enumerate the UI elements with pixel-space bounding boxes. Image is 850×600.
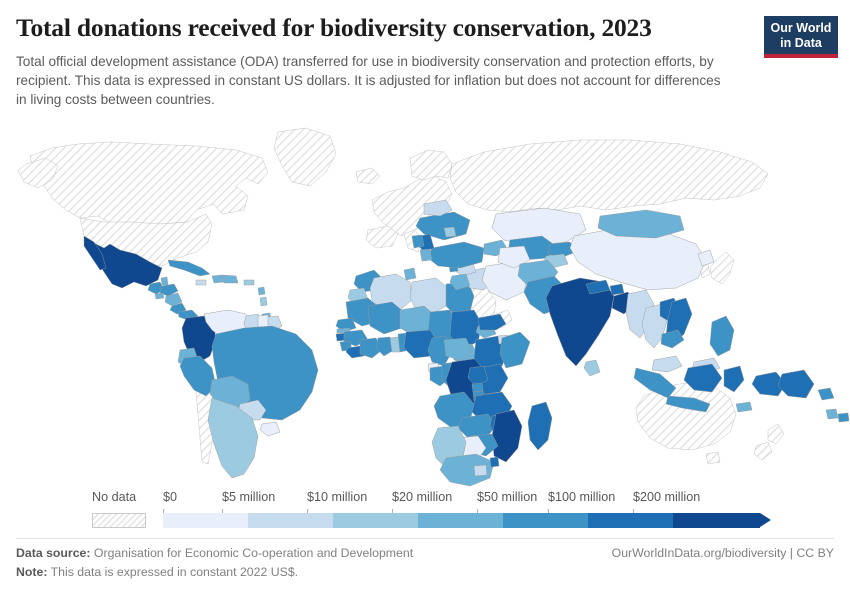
country-lesser-antilles-2	[260, 297, 267, 306]
legend-tick-5: $100 million	[548, 490, 615, 504]
country-indonesia-sulawesi	[724, 366, 744, 392]
country-moldova	[444, 227, 456, 237]
footer-note-row: Note: This data is expressed in constant…	[16, 565, 834, 584]
country-bosnia	[412, 235, 424, 248]
country-el-salvador	[155, 293, 164, 299]
country-mongolia	[598, 210, 684, 238]
country-timor-leste	[736, 402, 752, 412]
legend-tick-mark-1	[222, 509, 223, 513]
country-solomon-islands	[818, 388, 834, 400]
note-value: This data is expressed in constant 2022 …	[51, 565, 298, 579]
footer-source-row: Data source: Organisation for Economic C…	[16, 546, 834, 565]
country-new-zealand	[768, 424, 784, 444]
legend-bin-2	[333, 513, 418, 528]
country-puerto-rico	[244, 280, 254, 285]
legend-tick-mark-4	[477, 509, 478, 513]
legend-bin-5	[588, 513, 673, 528]
chart-header: Total donations received for biodiversit…	[16, 14, 746, 109]
legend-bin-0	[163, 513, 248, 528]
legend-tick-mark-6	[633, 509, 634, 513]
country-iceland	[356, 168, 380, 184]
country-australia	[636, 382, 736, 450]
legend-tick-6: $200 million	[633, 490, 700, 504]
legend-tick-mark-0	[163, 509, 164, 513]
legend-tick-0: $0	[163, 490, 177, 504]
country-jamaica	[196, 280, 206, 285]
chart-footer: Data source: Organisation for Economic C…	[16, 546, 834, 584]
legend-tick-3: $20 million	[392, 490, 452, 504]
legend-tick-2: $10 million	[307, 490, 367, 504]
country-canada	[30, 142, 268, 230]
country-lesotho	[474, 465, 487, 476]
country-russia	[450, 140, 768, 212]
legend-tick-mark-5	[548, 509, 549, 513]
logo-line-two: in Data	[770, 36, 832, 51]
legend-tick-1: $5 million	[222, 490, 275, 504]
legend-bin-6	[673, 513, 760, 528]
map-legend[interactable]: No data $0 $5 million $10 million $20 mi…	[0, 490, 850, 538]
chart-subtitle: Total official development assistance (O…	[16, 52, 722, 109]
country-tasmania	[706, 452, 720, 464]
legend-tick-mark-2	[307, 509, 308, 513]
country-albania-macedonia	[420, 249, 432, 261]
country-vanuatu	[826, 409, 838, 419]
country-norway-sweden-finland	[410, 150, 452, 180]
country-malaysia	[652, 356, 682, 372]
owid-map-chart: Total donations received for biodiversit…	[0, 0, 850, 600]
world-choropleth-map[interactable]	[0, 118, 850, 490]
source-value: Organisation for Economic Co-operation a…	[94, 546, 413, 560]
country-uruguay	[260, 422, 280, 436]
country-eswatini	[490, 457, 499, 467]
country-somalia	[500, 332, 530, 368]
legend-no-data-swatch[interactable]	[92, 513, 146, 528]
country-bhutan	[610, 284, 624, 295]
legend-color-ramp-row[interactable]	[0, 511, 850, 531]
country-turkey	[428, 242, 484, 268]
legend-tick-mark-3	[392, 509, 393, 513]
country-fiji	[838, 413, 849, 422]
country-tunisia	[404, 268, 416, 280]
attribution-link[interactable]: OurWorldInData.org/biodiversity | CC BY	[612, 546, 834, 560]
country-mozambique	[492, 410, 522, 462]
country-belize	[161, 277, 168, 285]
country-papua-new-guinea	[778, 370, 814, 398]
logo-line-one: Our World	[770, 21, 832, 36]
country-madagascar	[528, 402, 552, 450]
note-label: Note:	[16, 565, 47, 579]
country-cuba	[168, 260, 210, 276]
legend-bin-4	[503, 513, 588, 528]
legend-arrow-tip	[760, 513, 771, 527]
our-world-in-data-logo[interactable]: Our World in Data	[764, 16, 838, 58]
legend-bin-1	[248, 513, 333, 528]
source-label: Data source:	[16, 546, 91, 560]
country-japan	[710, 252, 734, 284]
country-greenland	[274, 128, 336, 186]
country-rwanda	[472, 383, 483, 392]
legend-tick-labels: No data $0 $5 million $10 million $20 mi…	[0, 490, 850, 508]
country-new-zealand-south	[754, 442, 772, 460]
page-title: Total donations received for biodiversit…	[16, 14, 746, 43]
country-dominican-republic	[222, 275, 238, 283]
country-sri-lanka	[584, 360, 600, 376]
country-lesser-antilles-1	[258, 287, 265, 295]
legend-bin-3	[418, 513, 503, 528]
country-philippines	[710, 316, 734, 356]
legend-tick-4: $50 million	[477, 490, 537, 504]
footer-divider	[16, 538, 834, 539]
legend-no-data-label: No data	[92, 490, 136, 504]
map-svg	[0, 118, 850, 490]
